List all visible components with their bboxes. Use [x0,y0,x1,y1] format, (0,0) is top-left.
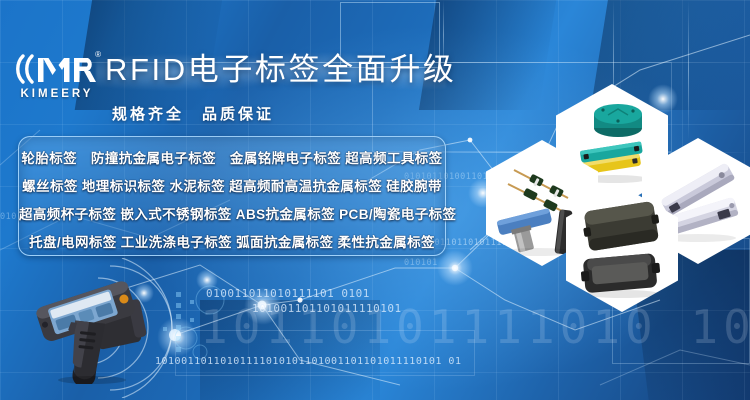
kmr-logo-icon [14,52,100,86]
rfid-promo-banner: 10110101111010 10 010011011010111101 010… [0,0,750,400]
tag-list-row: 超高频杯子标签 嵌入式不锈钢标签 ABS抗金属标签 PCB/陶瓷电子标签 [19,203,445,223]
registered-trademark-icon: ® [95,50,101,59]
background-vline-2 [688,0,689,140]
brand-logo[interactable]: ® KIMEERY [14,52,100,108]
binary-line-2: 101001101101011110101 [252,302,402,315]
page-subtitle: 规格齐全 品质保证 [112,103,274,124]
binary-line-7: 010101 [404,258,438,268]
binary-line-1: 010011011010111101 0101 [206,287,370,300]
logo-wordmark: KIMEERY [14,88,100,100]
logo-mark: ® [14,52,100,86]
handheld-rfid-reader-image[interactable] [28,272,156,384]
tag-list-row: 螺丝标签 地理标识标签 水泥标签 超高频耐高温抗金属标签 硅胶腕带 [19,175,445,195]
glow-node-3 [437,250,473,286]
handheld-reader-icon [28,272,156,384]
page-title: RFID电子标签全面升级 [105,50,457,90]
binary-line-3: 1010011011010111101010110100110110101111… [155,356,461,367]
binary-large-text: 10110101111010 10 [200,300,750,354]
glow-node-2 [157,317,197,357]
glow-node-1 [244,287,282,325]
background-panel-5 [200,300,380,400]
background-wireframe-4 [175,330,475,376]
glow-node-7 [196,269,218,291]
product-tag-list-panel: 轮胎标签 防撞抗金属电子标签 金属铭牌电子标签 超高频工具标签 螺丝标签 地理标… [18,136,446,256]
tag-list-row: 托盘/电网标签 工业洗涤电子标签 弧面抗金属标签 柔性抗金属标签 [19,231,445,251]
tag-list-row: 轮胎标签 防撞抗金属电子标签 金属铭牌电子标签 超高频工具标签 [19,147,445,167]
